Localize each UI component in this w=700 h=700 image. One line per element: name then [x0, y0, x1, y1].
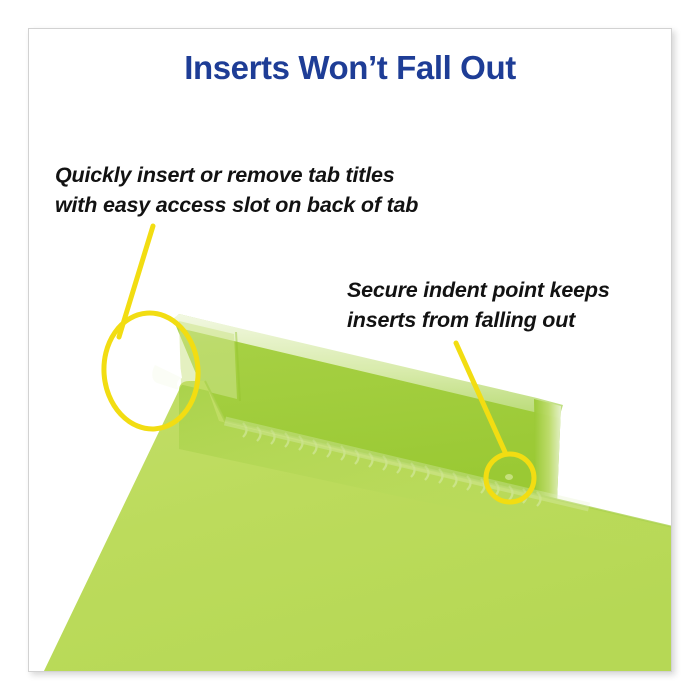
- callout-left-line-1: Quickly insert or remove tab titles: [55, 160, 418, 190]
- secure-indent-point: [503, 473, 517, 484]
- callout-easy-access-slot: Quickly insert or remove tab titles with…: [55, 160, 418, 220]
- product-photo-divider-tab: [29, 29, 672, 672]
- page-title: Inserts Won’t Fall Out: [29, 49, 671, 87]
- tab-right-edge: [534, 399, 561, 501]
- callout-left-line-2: with easy access slot on back of tab: [55, 190, 418, 220]
- callout-secure-indent-point: Secure indent point keeps inserts from f…: [347, 275, 610, 335]
- divider-illustration: [29, 29, 672, 672]
- callout-right-line-1: Secure indent point keeps: [347, 275, 610, 305]
- callout-right-line-2: inserts from falling out: [347, 305, 610, 335]
- product-feature-card: Inserts Won’t Fall Out Quickly insert or…: [28, 28, 672, 672]
- image-canvas: Inserts Won’t Fall Out Quickly insert or…: [0, 0, 700, 700]
